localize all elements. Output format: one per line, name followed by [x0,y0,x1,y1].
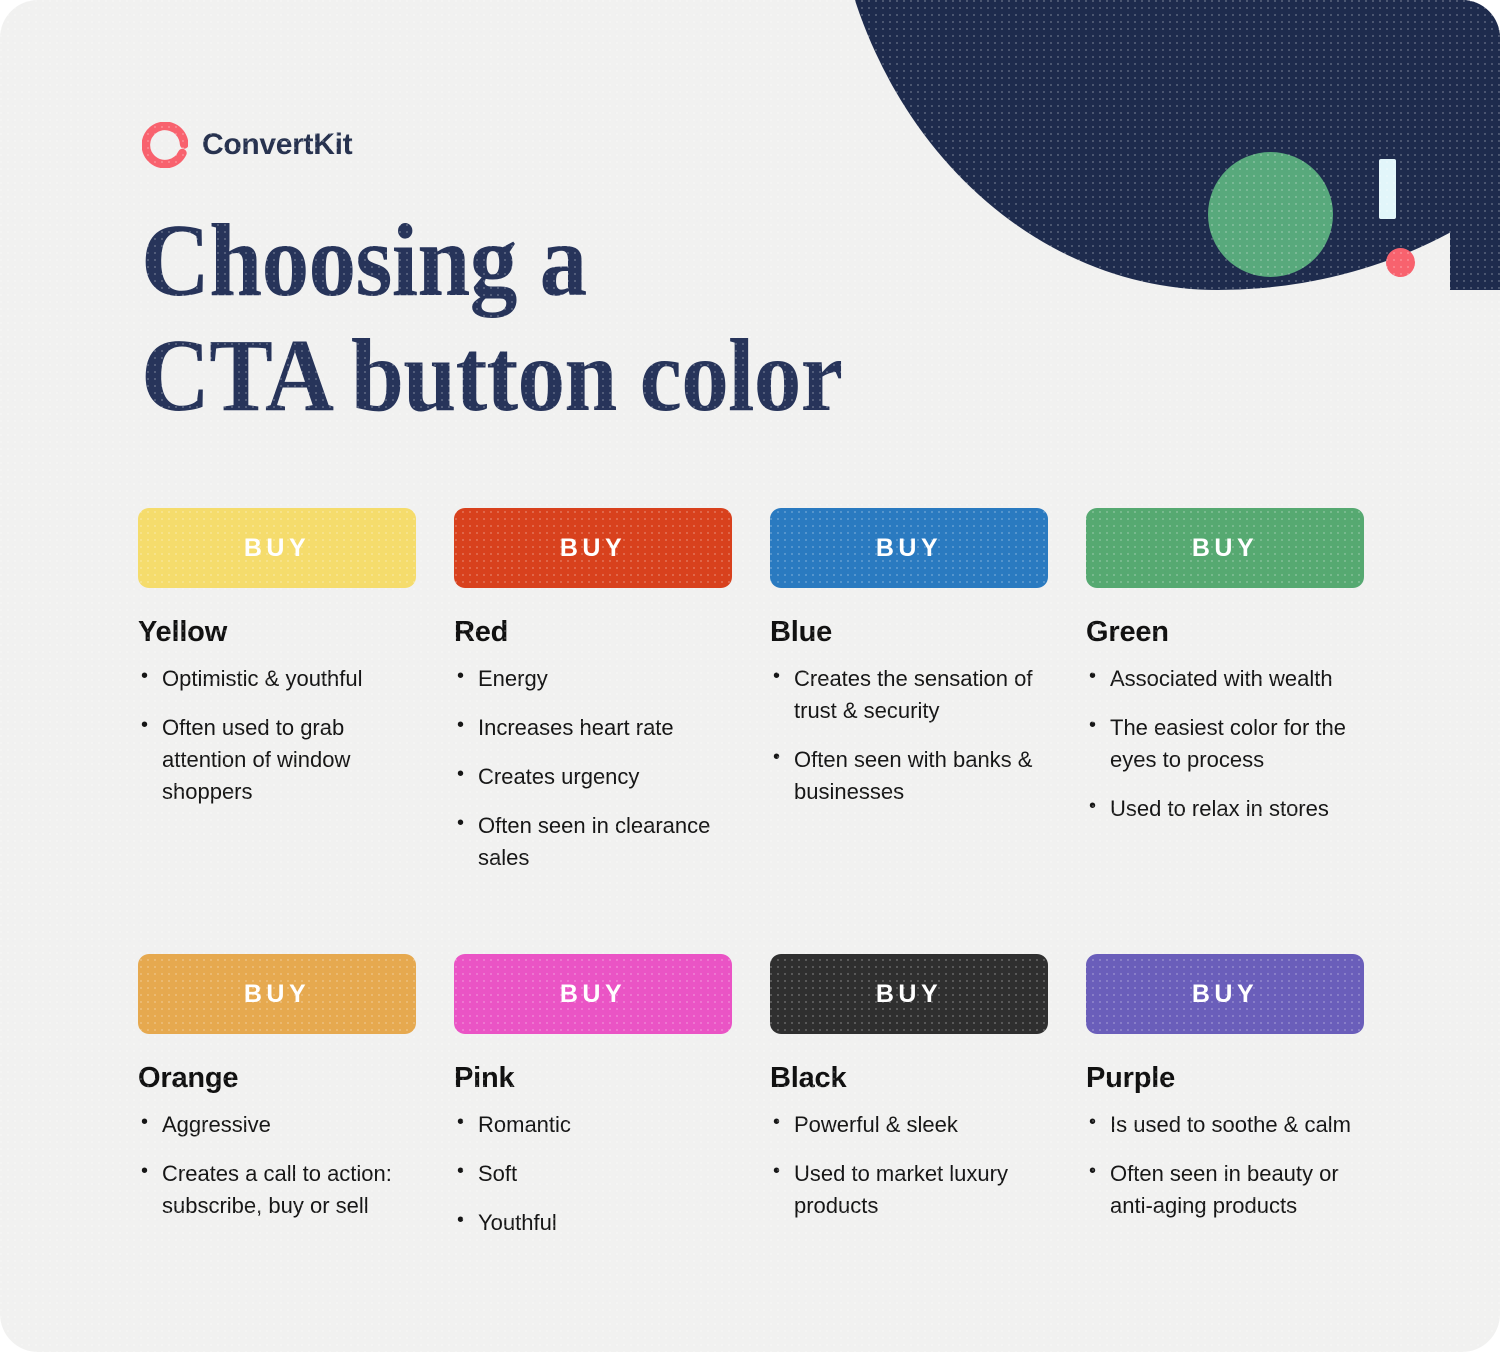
color-cards-grid: BUYYellowOptimistic & youthfulOften used… [138,508,1364,1256]
list-item: Soft [454,1158,732,1190]
buy-button-yellow[interactable]: BUY [138,508,416,588]
color-card-pink: BUYPinkRomanticSoftYouthful [454,954,732,1256]
bullet-list-green: Associated with wealthThe easiest color … [1086,663,1364,825]
list-item: Youthful [454,1207,732,1239]
buy-button-blue[interactable]: BUY [770,508,1048,588]
list-item: Creates the sensation of trust & securit… [770,663,1048,727]
buy-button-pink[interactable]: BUY [454,954,732,1034]
color-name-blue: Blue [770,616,1048,649]
color-card-red: BUYRedEnergyIncreases heart rateCreates … [454,508,732,892]
list-item: Often seen in clearance sales [454,810,732,874]
list-item: Often seen with banks & businesses [770,744,1048,808]
color-name-orange: Orange [138,1062,416,1095]
brand-logo: ConvertKit [142,122,352,168]
navy-blob-decoration [830,0,1500,290]
list-item: Creates urgency [454,761,732,793]
buy-button-green[interactable]: BUY [1086,508,1364,588]
color-card-yellow: BUYYellowOptimistic & youthfulOften used… [138,508,416,892]
bullet-list-yellow: Optimistic & youthfulOften used to grab … [138,663,416,808]
coral-dot-decoration [1386,248,1415,277]
green-circle-decoration [1208,152,1333,277]
bullet-list-purple: Is used to soothe & calmOften seen in be… [1086,1109,1364,1222]
color-name-yellow: Yellow [138,616,416,649]
list-item: The easiest color for the eyes to proces… [1086,712,1364,776]
infographic-canvas: ConvertKit Choosing a CTA button color B… [0,0,1500,1352]
list-item: Often seen in beauty or anti-aging produ… [1086,1158,1364,1222]
color-card-black: BUYBlackPowerful & sleekUsed to market l… [770,954,1048,1256]
color-name-purple: Purple [1086,1062,1364,1095]
list-item: Often used to grab attention of window s… [138,712,416,808]
list-item: Used to relax in stores [1086,793,1364,825]
color-name-red: Red [454,616,732,649]
color-name-black: Black [770,1062,1048,1095]
list-item: Increases heart rate [454,712,732,744]
list-item: Romantic [454,1109,732,1141]
color-card-green: BUYGreenAssociated with wealthThe easies… [1086,508,1364,892]
page-title: Choosing a CTA button color [141,203,842,434]
page-title-line-1: Choosing a [141,203,842,318]
buy-button-purple[interactable]: BUY [1086,954,1364,1034]
buy-button-black[interactable]: BUY [770,954,1048,1034]
buy-button-red[interactable]: BUY [454,508,732,588]
bullet-list-orange: AggressiveCreates a call to action: subs… [138,1109,416,1222]
convertkit-ring-icon [142,122,188,168]
list-item: Used to market luxury products [770,1158,1048,1222]
bullet-list-black: Powerful & sleekUsed to market luxury pr… [770,1109,1048,1222]
list-item: Powerful & sleek [770,1109,1048,1141]
list-item: Creates a call to action: subscribe, buy… [138,1158,416,1222]
color-card-purple: BUYPurpleIs used to soothe & calmOften s… [1086,954,1364,1256]
bullet-list-blue: Creates the sensation of trust & securit… [770,663,1048,808]
list-item: Associated with wealth [1086,663,1364,695]
list-item: Optimistic & youthful [138,663,416,695]
bullet-list-pink: RomanticSoftYouthful [454,1109,732,1239]
page-title-line-2: CTA button color [141,318,842,433]
list-item: Is used to soothe & calm [1086,1109,1364,1141]
color-name-pink: Pink [454,1062,732,1095]
bullet-list-red: EnergyIncreases heart rateCreates urgenc… [454,663,732,875]
color-card-blue: BUYBlueCreates the sensation of trust & … [770,508,1048,892]
buy-button-orange[interactable]: BUY [138,954,416,1034]
brand-name: ConvertKit [202,128,352,162]
light-blue-bar-decoration [1379,159,1396,219]
color-name-green: Green [1086,616,1364,649]
list-item: Aggressive [138,1109,416,1141]
list-item: Energy [454,663,732,695]
color-card-orange: BUYOrangeAggressiveCreates a call to act… [138,954,416,1256]
